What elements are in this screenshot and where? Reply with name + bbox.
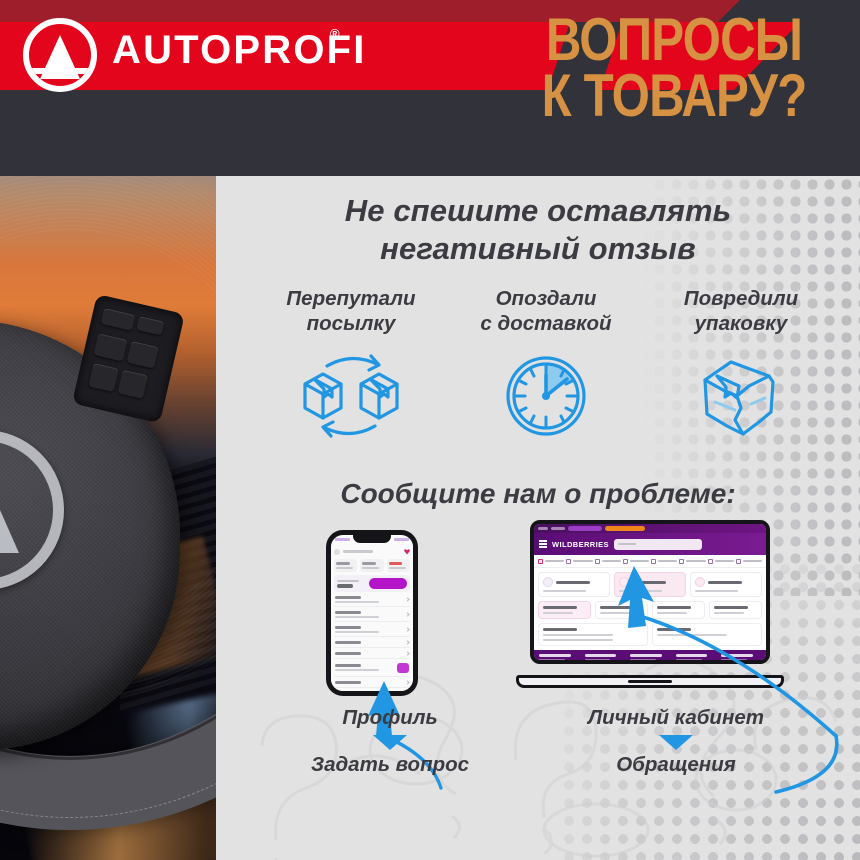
content-panel: Не спешите оставлять негативный отзыв Пе… bbox=[216, 176, 860, 860]
page-title-line-1: ВОПРОСЫ bbox=[531, 12, 816, 68]
chevron-right-icon bbox=[405, 680, 409, 684]
arrow-down-icon bbox=[659, 735, 693, 750]
feature-caption: Перепутали посылку bbox=[256, 286, 446, 336]
chat-bubble-icon bbox=[397, 663, 409, 673]
steering-wheel-buttons bbox=[82, 308, 177, 422]
search-input[interactable] bbox=[614, 539, 702, 550]
damaged-box-icon bbox=[646, 348, 836, 444]
phone-stat-card[interactable] bbox=[387, 559, 410, 572]
laptop-mockup: WILDBERRIES bbox=[516, 520, 784, 688]
phone-menu-item[interactable] bbox=[334, 592, 410, 607]
features-row: Перепутали посылку bbox=[246, 286, 830, 466]
autoprofi-logo-icon bbox=[23, 18, 97, 92]
nav-item-chat[interactable] bbox=[623, 559, 649, 564]
wb-card-shopping[interactable] bbox=[538, 623, 648, 646]
phone-screen bbox=[331, 544, 413, 691]
chevron-right-icon bbox=[405, 640, 409, 644]
wb-card-balance[interactable] bbox=[595, 601, 648, 619]
wb-account-body bbox=[534, 568, 766, 650]
wb-main-header: WILDBERRIES bbox=[534, 533, 766, 555]
chevron-right-icon bbox=[405, 627, 409, 631]
callout-labels: Профиль Задать вопрос Личный кабинет Обр… bbox=[216, 706, 860, 826]
feature-late-delivery: Опоздали с доставкой bbox=[451, 286, 641, 444]
wb-utility-bar bbox=[534, 524, 766, 533]
wb-card-chat[interactable] bbox=[652, 601, 705, 619]
callout-step-1: Профиль bbox=[250, 706, 530, 730]
footer-col-careers[interactable] bbox=[676, 654, 716, 661]
menu-burger-icon[interactable] bbox=[539, 539, 547, 550]
feature-caption-line-2: посылку bbox=[256, 311, 446, 336]
wb-cards-row-2 bbox=[538, 601, 762, 619]
poster-canvas: AUTOPROFI ® ВОПРОСЫ К ТОВАРУ? bbox=[0, 0, 860, 860]
phone-profile-header[interactable] bbox=[334, 547, 410, 556]
feature-mixed-up-parcel: Перепутали посылку bbox=[256, 286, 446, 444]
footer-col-app[interactable] bbox=[721, 654, 761, 661]
chevron-right-icon bbox=[405, 597, 409, 601]
heart-icon[interactable] bbox=[404, 549, 410, 555]
phone-menu-item[interactable] bbox=[334, 677, 410, 688]
phone-topup-button[interactable] bbox=[369, 578, 407, 589]
callout-phone-path: Профиль Задать вопрос bbox=[250, 706, 530, 777]
wb-footer bbox=[534, 650, 766, 664]
phone-menu-item-ask-question[interactable] bbox=[334, 659, 410, 677]
phone-notch bbox=[353, 535, 391, 543]
nav-item-reviews[interactable] bbox=[708, 559, 734, 564]
callout-laptop-path: Личный кабинет Обращения bbox=[536, 706, 816, 777]
feature-caption-line-1: Перепутали bbox=[256, 286, 446, 311]
phone-stat-cards bbox=[334, 559, 410, 572]
brand-wordmark: AUTOPROFI bbox=[112, 28, 367, 73]
phone-balance-row bbox=[334, 575, 410, 592]
phone-menu-item[interactable] bbox=[334, 607, 410, 622]
wb-card-avatar-preview[interactable] bbox=[652, 623, 762, 646]
header-bar: AUTOPROFI ® ВОПРОСЫ К ТОВАРУ? bbox=[0, 0, 860, 176]
wb-account-nav bbox=[534, 555, 766, 568]
nav-item-profile[interactable] bbox=[736, 559, 762, 564]
callout-step-1: Личный кабинет bbox=[536, 706, 816, 730]
arrow-down-icon bbox=[373, 735, 407, 750]
wb-promo-pill[interactable] bbox=[568, 526, 602, 531]
wb-card-delivery[interactable] bbox=[614, 572, 686, 597]
registered-mark: ® bbox=[330, 26, 340, 41]
nav-item-returns[interactable] bbox=[679, 559, 705, 564]
feature-caption: Повредили упаковку bbox=[646, 286, 836, 336]
wb-logo: WILDBERRIES bbox=[552, 540, 609, 549]
callout-step-2: Обращения bbox=[536, 753, 816, 777]
callout-step-2: Задать вопрос bbox=[250, 753, 530, 777]
laptop-screen: WILDBERRIES bbox=[530, 520, 770, 664]
nav-item-appeals[interactable] bbox=[651, 559, 677, 564]
wb-card-payment-methods[interactable] bbox=[538, 601, 591, 619]
logo-crossbar-shape bbox=[25, 68, 97, 74]
wb-cards-row-1 bbox=[538, 572, 762, 597]
main-heading: Не спешите оставлять негативный отзыв bbox=[216, 192, 860, 268]
laptop-base bbox=[516, 675, 784, 688]
wb-card-profile[interactable] bbox=[538, 572, 610, 597]
wb-card-favorite-brands[interactable] bbox=[709, 601, 762, 619]
wb-promo-pill-orange[interactable] bbox=[605, 526, 645, 531]
phone-balance-amount bbox=[337, 580, 359, 588]
phone-stat-card[interactable] bbox=[334, 559, 357, 572]
wb-cards-row-3 bbox=[538, 623, 762, 646]
phone-avatar bbox=[334, 549, 340, 555]
two-boxes-swap-icon bbox=[256, 348, 446, 444]
page-title: ВОПРОСЫ К ТОВАРУ? bbox=[531, 12, 816, 124]
page-title-line-2: К ТОВАРУ? bbox=[531, 68, 816, 124]
phone-profile-name bbox=[343, 550, 373, 553]
devices-row: WILDBERRIES bbox=[216, 526, 860, 706]
wb-card-purchases[interactable] bbox=[690, 572, 762, 597]
footer-col-company[interactable] bbox=[630, 654, 670, 661]
footer-col-partners[interactable] bbox=[585, 654, 625, 661]
nav-item-wallet[interactable] bbox=[595, 559, 621, 564]
main-heading-line-1: Не спешите оставлять bbox=[216, 192, 860, 230]
phone-menu-item[interactable] bbox=[334, 648, 410, 659]
phone-menu-item[interactable] bbox=[334, 622, 410, 637]
phone-menu-item[interactable] bbox=[334, 637, 410, 648]
feature-caption: Опоздали с доставкой bbox=[451, 286, 641, 336]
clock-icon bbox=[451, 348, 641, 444]
footer-col-buyers[interactable] bbox=[539, 654, 579, 661]
phone-stat-card[interactable] bbox=[360, 559, 383, 572]
feature-caption-line-1: Опоздали bbox=[451, 286, 641, 311]
feature-damaged-packaging: Повредили упаковку bbox=[646, 286, 836, 444]
cta-heading: Сообщите нам о проблеме: bbox=[216, 478, 860, 510]
chevron-right-icon bbox=[405, 651, 409, 655]
main-heading-line-2: негативный отзыв bbox=[216, 230, 860, 268]
feature-caption-line-2: упаковку bbox=[646, 311, 836, 336]
feature-caption-line-1: Повредили bbox=[646, 286, 836, 311]
smartphone-mockup bbox=[326, 530, 418, 696]
chevron-right-icon bbox=[405, 612, 409, 616]
nav-item-favorites[interactable] bbox=[566, 559, 592, 564]
nav-item-orders[interactable] bbox=[538, 559, 564, 564]
feature-caption-line-2: с доставкой bbox=[451, 311, 641, 336]
